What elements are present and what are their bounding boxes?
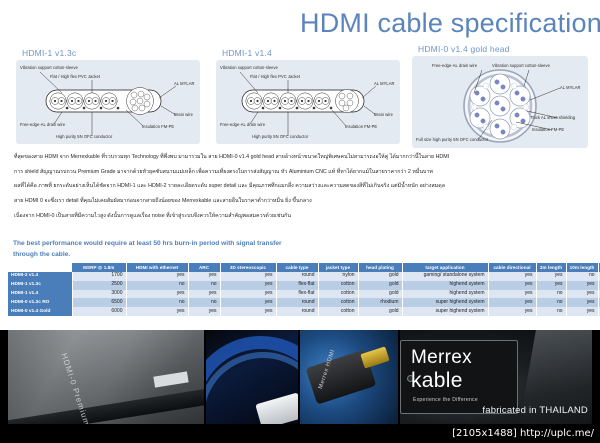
label-insulation-p1: Insulation FM-PE	[142, 125, 174, 129]
leader-lines-panel-1	[16, 60, 200, 144]
brand-tag-card: Merrex kable Experience the Difference	[400, 340, 518, 414]
cell-head-plating: gold	[358, 281, 402, 290]
leader-lines-panel-2	[216, 60, 400, 144]
cell-hdmi-ethernet: no	[126, 298, 188, 307]
panel-title-hdmi-0-v14-gold: HDMI-0 v1.4 gold head	[418, 44, 510, 54]
cell-msrp: 2500	[72, 281, 126, 290]
col-10m-length: 10m length	[566, 263, 598, 272]
cell-head-plating: gold	[358, 272, 402, 281]
label-shielding-p3: Thick AL sheet shielding	[530, 116, 575, 120]
cell-msrp: 6000	[72, 307, 126, 316]
cell-head-plating: gold	[358, 307, 402, 316]
cell-cable-type: round	[276, 307, 318, 316]
cell-3m: no	[536, 298, 566, 307]
table-row: HDMI-1 v1.3c 2500 no no yes flex-flat co…	[8, 281, 600, 290]
label-conductor-p2: High purity 5N OFC conductor	[252, 135, 308, 139]
col-hdmi-ethernet: HDMI with ethernet	[126, 263, 188, 272]
label-free-edge-p3: Free-edge-AL drain wire	[432, 64, 477, 68]
cell-arc: yes	[188, 272, 220, 281]
cell-directional: yes	[488, 298, 536, 307]
row-label: HDMI-2 v1.4	[8, 272, 72, 281]
brand-name-line2: kable	[411, 369, 463, 393]
cell-cable-type: round	[276, 298, 318, 307]
cell-cable-type: flex-flat	[276, 290, 318, 299]
cell-arc: yes	[188, 307, 220, 316]
slide-canvas: HDMI cable specification HDMI-1 v1.3c	[0, 0, 600, 443]
body-paragraph-1: ที่สุดของสาย HDMI จาก Merrexkable ที่รวบ…	[14, 152, 587, 163]
label-vibration-p2: Vibration support cotton-sleeve	[220, 66, 278, 70]
fabricated-caption: fabricated in THAILAND	[482, 405, 588, 416]
cell-cable-type: flex-flat	[276, 281, 318, 290]
cell-10m: yes	[566, 307, 598, 316]
cell-hdmi-ethernet: yes	[126, 272, 188, 281]
body-copy: ที่สุดของสาย HDMI จาก Merrexkable ที่รวบ…	[14, 152, 587, 226]
diagram-panel-hdmi-1-v13c: Vibration support cotton-sleeve Flat / H…	[16, 60, 200, 144]
table-row: HDMI-1 v1.4 3000 yes yes yes flex-flat c…	[8, 290, 600, 299]
col-cable-type: cable type	[276, 263, 318, 272]
col-3d-stereoscopic: 3D stereoscopic	[220, 263, 276, 272]
col-3m-length: 3m length	[536, 263, 566, 272]
spec-table: MSRP @ 1.8m HDMI with ethernet ARC 3D st…	[8, 263, 600, 316]
label-insulation-p2: Insulation FM-PE	[345, 125, 377, 129]
plug-gold-tip	[360, 346, 389, 368]
cell-10m: yes	[566, 298, 598, 307]
label-free-edge-p2: Free-edge-AL drain wire	[220, 123, 265, 127]
cell-hdmi-ethernet: yes	[126, 290, 188, 299]
table-row: HDMI-0 v1.4 Gold 6000 yes yes yes round …	[8, 307, 600, 316]
cell-jacket-type: cotton	[318, 298, 358, 307]
cell-10m: no	[566, 272, 598, 281]
cell-arc: no	[188, 298, 220, 307]
cell-3d: yes	[220, 272, 276, 281]
photo-blue-cable	[206, 330, 298, 426]
cell-head-plating: rhodium	[358, 298, 402, 307]
label-jacket-p2: Flat / High flex PVC Jacket	[250, 75, 300, 79]
label-mylar-p1: AL MYLAR	[174, 82, 195, 86]
cell-hdmi-ethernet: yes	[126, 307, 188, 316]
label-mylar-p3: AL MYLAR	[560, 86, 581, 90]
label-mylar-p2: AL MYLAR	[374, 82, 395, 86]
cell-jacket-type: cotton	[318, 290, 358, 299]
label-drain-p1: Drain wire	[174, 113, 193, 117]
photo-brand-tag: Merrex kable Experience the Difference f…	[400, 330, 592, 426]
cell-target-application: highend system	[402, 281, 488, 290]
cell-directional: yes	[488, 281, 536, 290]
label-insulation-p3: Insulation FM-PE	[532, 128, 564, 132]
cell-arc: no	[188, 281, 220, 290]
cell-jacket-type: cotton	[318, 307, 358, 316]
body-paragraph-3: ผลที่ได้คือ ภาพที่ ยกระดับอย่างเห็นได้ชั…	[14, 181, 587, 192]
diagram-panel-hdmi-1-v14: Vibration support cotton-sleeve Flat / H…	[216, 60, 400, 144]
cell-msrp: 1700	[72, 272, 126, 281]
label-jacket-p1: Flat / High flex PVC Jacket	[50, 75, 100, 79]
table-row: HDMI-2 v1.4 1700 yes yes yes round nylon…	[8, 272, 600, 281]
cell-3d: yes	[220, 281, 276, 290]
body-paragraph-5: เนื่องจาก HDMI-0 เป็นสายที่มีความไวสูง ด…	[14, 211, 587, 222]
cell-3d: yes	[220, 298, 276, 307]
cell-msrp: 6500	[72, 298, 126, 307]
cell-cable-type: round	[276, 272, 318, 281]
label-conductor-p3: Full size high purity 5N OFC conductor	[416, 138, 488, 142]
diagram-panel-hdmi-0-v14-gold: Free-edge-AL drain wire Vibration suppor…	[412, 56, 588, 148]
body-paragraph-2: การ shield สัญญาณรบกวน Premium Grade มาจ…	[14, 167, 587, 178]
cell-3d: yes	[220, 307, 276, 316]
brand-name-line1: Merrex	[411, 347, 472, 369]
cell-3m: no	[536, 307, 566, 316]
photo-hdmi-plug: Merrex HDMI	[300, 330, 398, 426]
label-drain-p2: Drain wire	[374, 113, 393, 117]
row-label: HDMI-0 v1.3c RO	[8, 298, 72, 307]
brand-tagline: Experience the Difference	[413, 397, 478, 403]
cell-directional: yes	[488, 290, 536, 299]
row-label: HDMI-0 v1.4 Gold	[8, 307, 72, 316]
cell-jacket-type: nylon	[318, 272, 358, 281]
cell-target-application: super highend system	[402, 298, 488, 307]
watermark: [2105x1488] http://uplc.me/	[0, 424, 600, 443]
col-msrp: MSRP @ 1.8m	[72, 263, 126, 272]
label-vibration-p1: Vibration support cotton-sleeve	[20, 66, 78, 70]
panel-title-hdmi-1-v13c: HDMI-1 v1.3c	[22, 48, 76, 58]
burn-in-note: The best performance would require at le…	[13, 238, 293, 260]
cell-target-application: highend system	[402, 290, 488, 299]
page-title: HDMI cable specification	[300, 8, 592, 39]
row-label: HDMI-1 v1.4	[8, 290, 72, 299]
cell-10m: yes	[566, 281, 598, 290]
cell-target-application: gaming/ standalone system	[402, 272, 488, 281]
label-free-edge-p1: Free-edge-AL drain wire	[20, 123, 65, 127]
cell-msrp: 3000	[72, 290, 126, 299]
photo-product-box: HDMI-0 Premium V1.4	[8, 330, 204, 426]
cell-hdmi-ethernet: no	[126, 281, 188, 290]
cell-3m: yes	[536, 272, 566, 281]
col-jacket-type: jacket type	[318, 263, 358, 272]
cell-3d: yes	[220, 290, 276, 299]
cell-jacket-type: cotton	[318, 281, 358, 290]
cell-directional: yes	[488, 307, 536, 316]
table-corner-cell	[8, 263, 72, 272]
col-head-plating: head plating	[358, 263, 402, 272]
cell-3m: no	[536, 290, 566, 299]
leader-lines-panel-3	[412, 56, 588, 148]
panel-title-hdmi-1-v14: HDMI-1 v1.4	[222, 48, 272, 58]
label-conductor-p1: High purity 5N OFC conductor	[56, 135, 112, 139]
body-paragraph-4: สาย HDMI 0 จะซึ่งเรา detail ที่คุณไม่เคย…	[14, 196, 587, 207]
col-cable-directional: cable directional	[488, 263, 536, 272]
table-row: HDMI-0 v1.3c RO 6500 no no yes round cot…	[8, 298, 600, 307]
cell-head-plating: gold	[358, 290, 402, 299]
col-target-application: target application	[402, 263, 488, 272]
col-arc: ARC	[188, 263, 220, 272]
cell-target-application: super highend system	[402, 307, 488, 316]
row-label: HDMI-1 v1.3c	[8, 281, 72, 290]
cell-directional: yes	[488, 272, 536, 281]
label-vibration-p3: Vibration support cotton-sleeve	[492, 64, 550, 68]
cell-arc: yes	[188, 290, 220, 299]
cell-3m: yes	[536, 281, 566, 290]
table-header-row: MSRP @ 1.8m HDMI with ethernet ARC 3D st…	[8, 263, 600, 272]
cell-10m: yes	[566, 290, 598, 299]
